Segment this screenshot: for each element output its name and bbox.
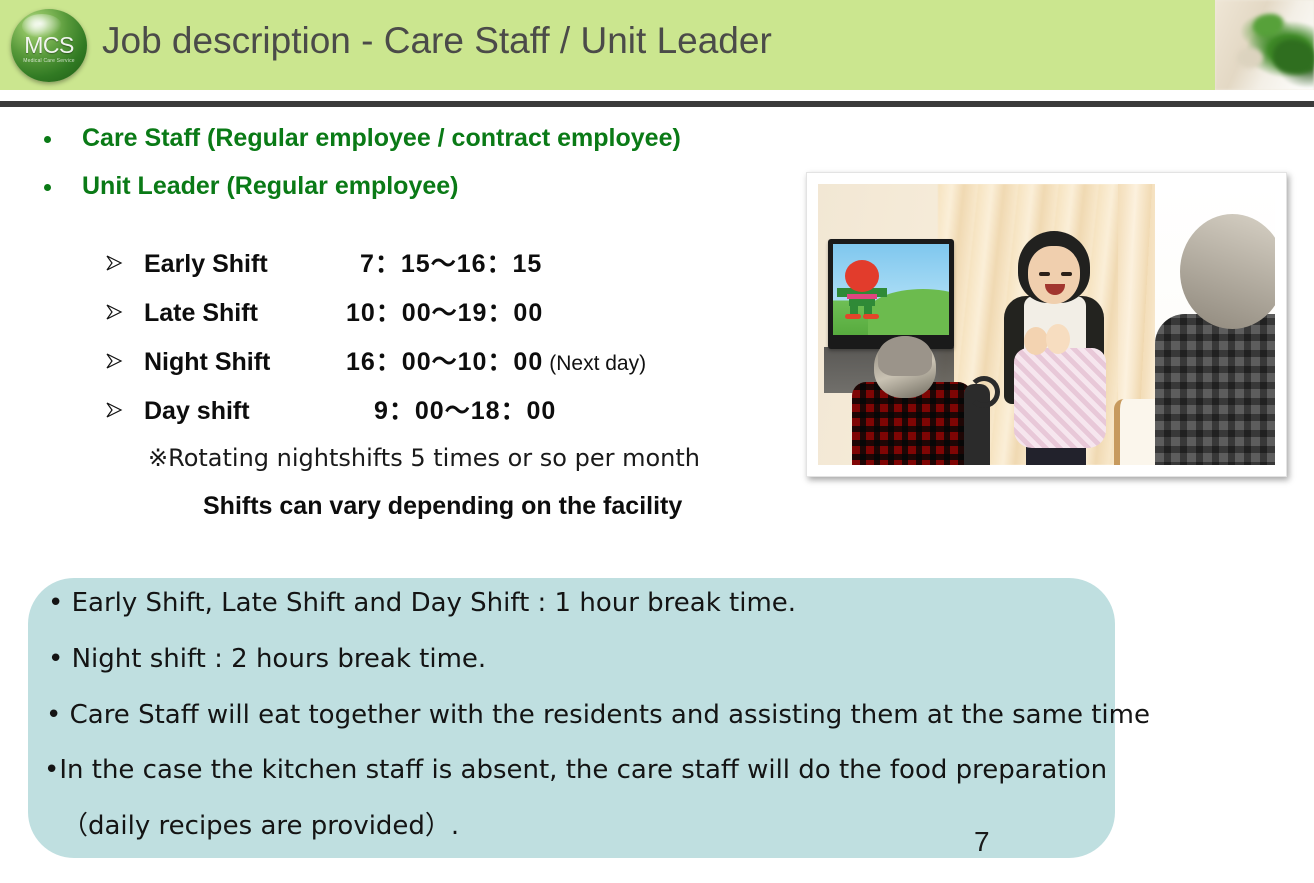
photo-resident-right-body	[1155, 314, 1275, 465]
arrow-bullet-icon	[104, 351, 126, 371]
photo-tv-character-belt	[847, 294, 877, 299]
arrow-bullet-icon	[104, 302, 126, 322]
photo-staff-eye-left	[1039, 272, 1050, 276]
note-line: •In the case the kitchen staff is absent…	[44, 755, 1107, 785]
role-list-item-care-staff: Care Staff (Regular employee / contract …	[36, 125, 936, 153]
photo-tv-character-head	[845, 260, 879, 292]
shift-time-note: (Next day)	[549, 352, 646, 375]
photo-tv-character-foot-left	[845, 314, 861, 319]
photo-tv-screen	[833, 244, 949, 335]
logo-mark-text: MCS	[11, 34, 87, 57]
photo-tv-character-foot-right	[863, 314, 879, 319]
role-label: Care Staff (Regular employee / contract …	[36, 125, 936, 153]
photo-resident-right-head	[1180, 214, 1275, 329]
shift-name: Early Shift	[144, 250, 268, 279]
photo-staff-hand-left	[1024, 327, 1048, 355]
shift-time: 16：00～10：00(Next day)	[346, 348, 646, 377]
shifts-vary-note: Shifts can vary depending on the facilit…	[203, 492, 682, 521]
photo-resident-front-hair	[878, 336, 932, 376]
photo-staff-eye-right	[1061, 272, 1072, 276]
shift-time: 10：00～19：00	[346, 299, 543, 328]
role-label: Unit Leader (Regular employee)	[36, 173, 936, 201]
page-number: 7	[974, 826, 990, 858]
note-line: • Early Shift, Late Shift and Day Shift …	[48, 588, 796, 618]
rotating-nightshift-note: ※Rotating nightshifts 5 times or so per …	[148, 444, 700, 472]
photo-staff-apron	[1014, 348, 1106, 448]
photo-staff-hand-right	[1046, 324, 1070, 354]
mcs-logo: MCS Medical Care Service	[11, 9, 87, 82]
shift-name: Night Shift	[144, 348, 270, 377]
shift-name: Late Shift	[144, 299, 258, 328]
arrow-bullet-icon	[104, 253, 126, 273]
shift-time-value: 16：00～10：00	[346, 348, 543, 376]
note-line: • Night shift : 2 hours break time.	[48, 644, 486, 674]
logo-subtitle-text: Medical Care Service	[11, 59, 87, 64]
herbs-photo-leaf-main	[1273, 40, 1314, 74]
shift-time: 7：15～16：15	[360, 250, 542, 279]
role-list-item-unit-leader: Unit Leader (Regular employee)	[36, 173, 936, 201]
herbs-photo-board	[1237, 48, 1263, 68]
photo-staff-face	[1028, 246, 1080, 304]
note-line: （daily recipes are provided）.	[62, 805, 459, 842]
care-staff-photo-frame	[806, 172, 1287, 477]
shift-time: 9：00～18：00	[374, 397, 556, 426]
care-staff-photo	[818, 184, 1275, 465]
note-line: • Care Staff will eat together with the …	[46, 700, 1150, 730]
page-title: Job description - Care Staff / Unit Lead…	[102, 20, 772, 62]
photo-wheelchair-handle	[968, 376, 1000, 408]
herbs-photo	[1215, 0, 1314, 90]
photo-television	[828, 239, 954, 349]
header-divider	[0, 101, 1314, 107]
shift-name: Day shift	[144, 397, 250, 426]
arrow-bullet-icon	[104, 400, 126, 420]
